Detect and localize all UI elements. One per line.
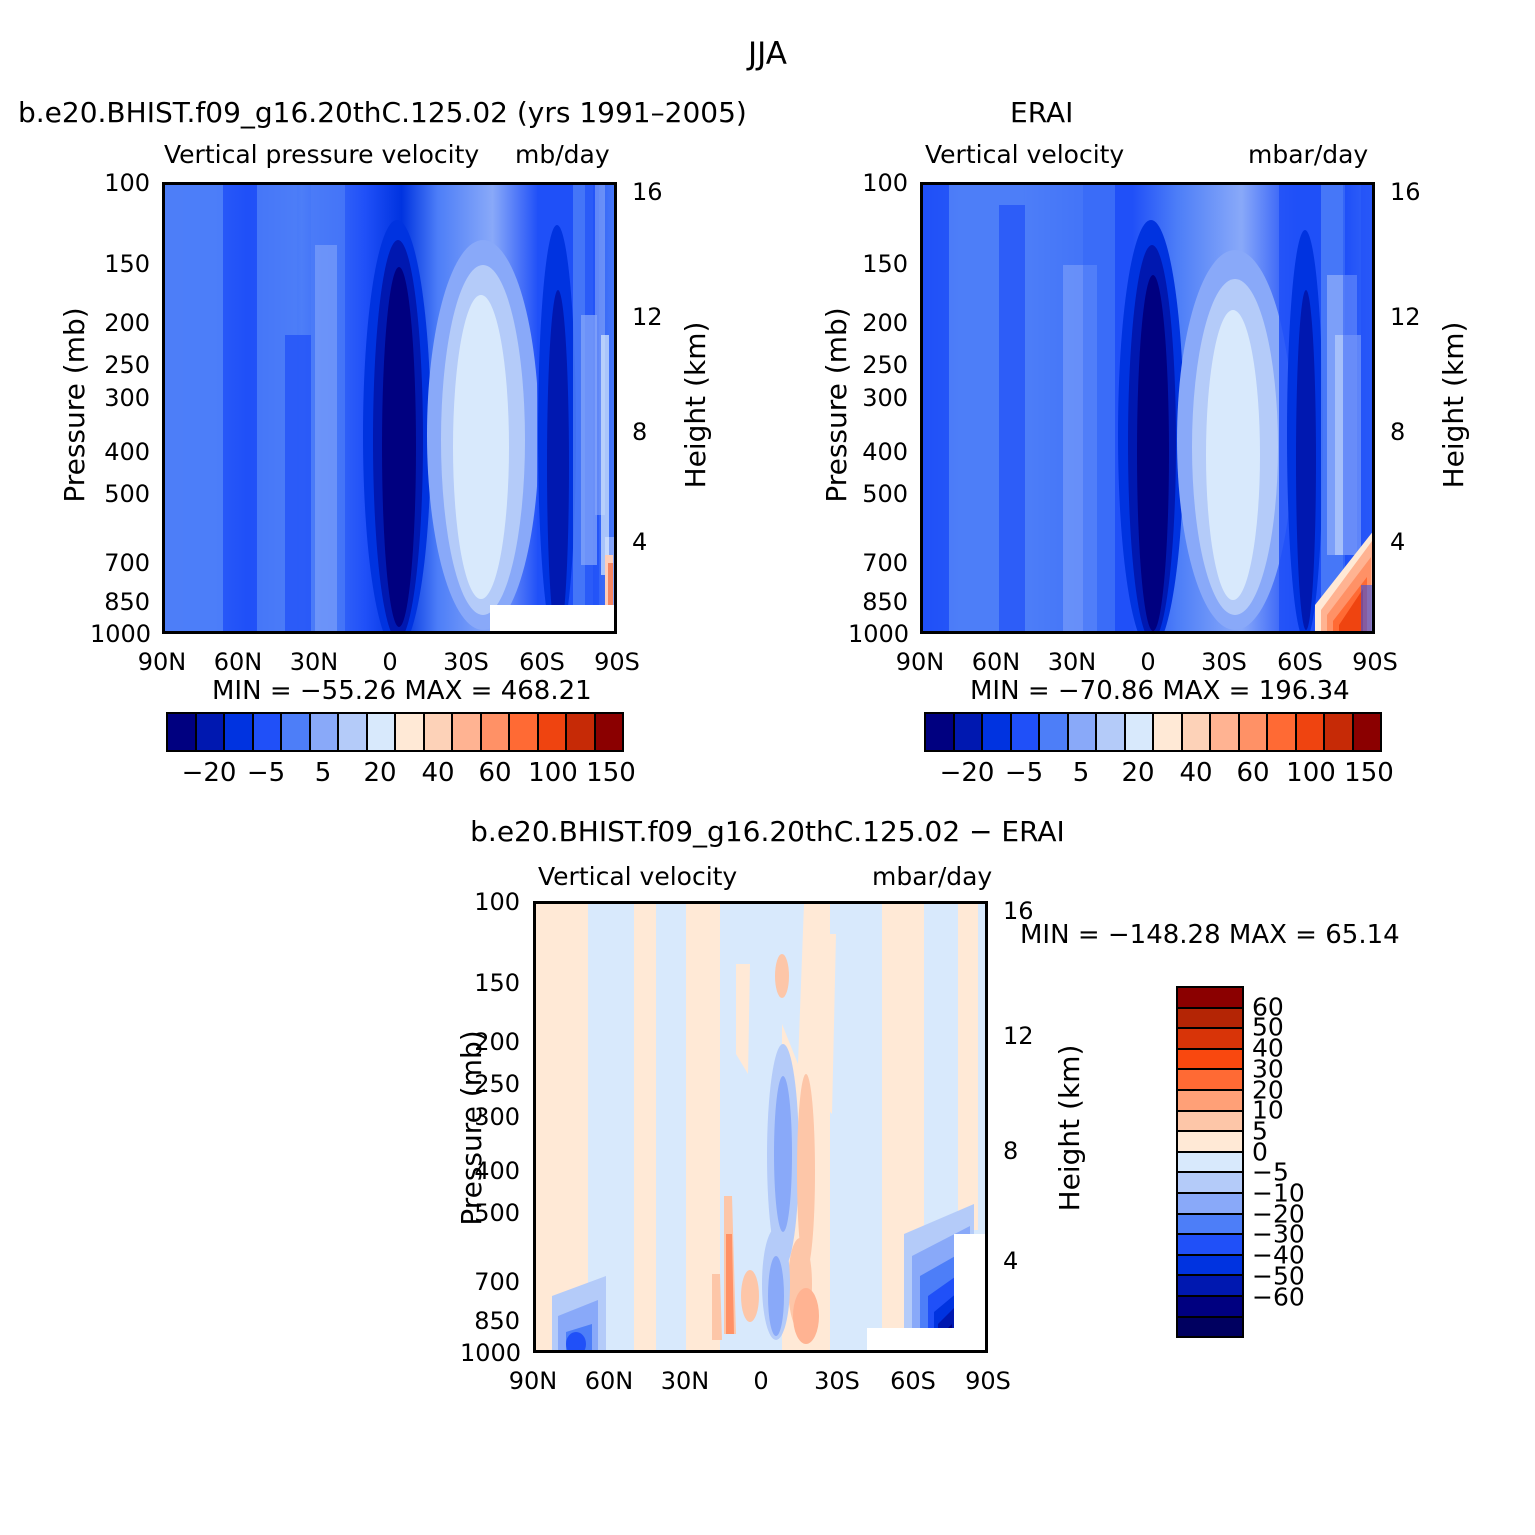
- y-axis-minor-tick: [920, 593, 923, 596]
- left-ytick-400: 400: [90, 438, 150, 466]
- right-ytick-300: 300: [848, 384, 908, 412]
- diff-ytick-150: 150: [460, 969, 520, 997]
- x-axis-minor-tick: [367, 182, 370, 185]
- y2-axis-tick: [614, 213, 617, 216]
- colorbar-cell: [1178, 1235, 1242, 1256]
- x-axis-minor-tick: [569, 631, 572, 634]
- right-xtick-30N: 30N: [1048, 648, 1097, 676]
- x-axis-minor-tick: [561, 901, 564, 904]
- left-unit-label: mb/day: [515, 140, 610, 169]
- colorbar-cell: [1154, 714, 1183, 750]
- x-axis-minor-tick: [1125, 182, 1128, 185]
- diff-y2tick-8: 8: [1003, 1137, 1018, 1165]
- colorbar-cell: [1126, 714, 1155, 750]
- right-ytick-250: 250: [848, 351, 908, 379]
- x-axis-minor-tick: [974, 631, 977, 634]
- colorbar-cell: [1178, 1297, 1242, 1318]
- y-axis-minor-tick: [533, 940, 536, 943]
- diff-colorbar-label: −60: [1252, 1282, 1305, 1311]
- colorbar-cell: [955, 714, 984, 750]
- right-panel-case-title: ERAI: [1010, 96, 1073, 129]
- x-axis-minor-tick: [1252, 182, 1255, 185]
- x-axis-minor-tick: [974, 182, 977, 185]
- y-axis-tick: [162, 365, 165, 368]
- y-axis-tick: [533, 984, 536, 987]
- colorbar-cell: [539, 714, 568, 750]
- x-axis-minor-tick: [494, 182, 497, 185]
- diff-xtick-60S: 60S: [890, 1367, 936, 1395]
- x-axis-tick: [317, 631, 320, 634]
- right-cbar-label-6: 100: [1286, 758, 1336, 788]
- right-ytick-150: 150: [848, 250, 908, 278]
- right-cbar-label-1: −5: [1005, 758, 1043, 788]
- right-y2tick-8: 8: [1390, 418, 1405, 446]
- diff-ytick-400: 400: [460, 1157, 520, 1185]
- y-axis-tick: [920, 265, 923, 268]
- colorbar-cell: [1178, 1215, 1242, 1236]
- y-axis-tick: [533, 1286, 536, 1289]
- diff-ytick-300: 300: [460, 1103, 520, 1131]
- right-xtick-30S: 30S: [1201, 648, 1247, 676]
- right-xtick-90N: 90N: [896, 648, 945, 676]
- left-ytick-150: 150: [90, 250, 150, 278]
- y-axis-minor-tick: [533, 1068, 536, 1071]
- right-xtick-0: 0: [1140, 648, 1155, 676]
- x-axis-tick: [1302, 182, 1305, 185]
- colorbar-cell: [510, 714, 539, 750]
- y-axis-tick: [920, 185, 923, 188]
- colorbar-cell: [1178, 1194, 1242, 1215]
- x-axis-tick: [1151, 182, 1154, 185]
- x-axis-minor-tick: [595, 182, 598, 185]
- x-axis-minor-tick: [1327, 182, 1330, 185]
- right-xtick-60N: 60N: [972, 648, 1021, 676]
- x-axis-minor-tick: [890, 901, 893, 904]
- left-cbar-label-0: −20: [182, 758, 237, 788]
- x-axis-minor-tick: [1327, 631, 1330, 634]
- left-cbar-label-3: 20: [363, 758, 396, 788]
- y2-axis-tick: [1372, 531, 1375, 534]
- x-axis-minor-tick: [494, 631, 497, 634]
- x-axis-tick: [1075, 631, 1078, 634]
- y-axis-minor-tick: [162, 623, 165, 626]
- colorbar-cell: [596, 714, 623, 750]
- x-axis-tick: [536, 901, 539, 904]
- left-ytick-250: 250: [90, 351, 150, 379]
- x-axis-minor-tick: [713, 901, 716, 904]
- x-axis-tick: [317, 182, 320, 185]
- left-ytick-700: 700: [90, 549, 150, 577]
- x-axis-tick: [241, 631, 244, 634]
- x-axis-tick: [915, 1350, 918, 1353]
- left-contour-field: [165, 185, 617, 634]
- x-axis-minor-tick: [291, 182, 294, 185]
- x-axis-minor-tick: [1353, 182, 1356, 185]
- diff-y2tick-12: 12: [1003, 1022, 1034, 1050]
- x-axis-tick: [536, 1350, 539, 1353]
- right-y2-axis-title: Height (km): [1437, 322, 1470, 489]
- y-axis-minor-tick: [920, 480, 923, 483]
- x-axis-tick: [923, 631, 926, 634]
- diff-xtick-30N: 30N: [661, 1367, 710, 1395]
- diff-y2-axis-title: Height (km): [1053, 1045, 1086, 1212]
- diff-ytick-200: 200: [460, 1028, 520, 1056]
- colorbar-cell: [225, 714, 254, 750]
- x-axis-minor-tick: [443, 631, 446, 634]
- y-axis-minor-tick: [533, 1199, 536, 1202]
- colorbar-cell: [339, 714, 368, 750]
- y-axis-minor-tick: [533, 1150, 536, 1153]
- y-axis-tick: [162, 265, 165, 268]
- right-xtick-90S: 90S: [1352, 648, 1398, 676]
- colorbar-cell: [1240, 714, 1269, 750]
- left-panel-case-title: b.e20.BHIST.f09_g16.20thC.125.02 (yrs 19…: [18, 96, 747, 129]
- y-axis-tick: [162, 185, 165, 188]
- y-axis-minor-tick: [162, 431, 165, 434]
- colorbar-cell: [1069, 714, 1098, 750]
- x-axis-minor-tick: [519, 631, 522, 634]
- colorbar-cell: [482, 714, 511, 750]
- colorbar-cell: [1178, 1091, 1242, 1112]
- diff-ytick-850: 850: [460, 1307, 520, 1335]
- left-y2tick-8: 8: [632, 418, 647, 446]
- x-axis-minor-tick: [814, 901, 817, 904]
- left-y2tick-16: 16: [632, 178, 663, 206]
- colorbar-cell: [453, 714, 482, 750]
- y-axis-tick: [920, 567, 923, 570]
- y2-axis-tick: [985, 1250, 988, 1253]
- colorbar-cell: [1178, 1009, 1242, 1030]
- x-axis-tick: [1075, 182, 1078, 185]
- right-cbar-label-5: 60: [1236, 758, 1269, 788]
- x-axis-tick: [764, 1350, 767, 1353]
- x-axis-minor-tick: [738, 1350, 741, 1353]
- y-axis-tick: [162, 457, 165, 460]
- colorbar-cell: [1325, 714, 1354, 750]
- colorbar-cell: [1178, 1029, 1242, 1050]
- y-axis-tick: [920, 401, 923, 404]
- right-colorbar: [924, 712, 1382, 752]
- x-axis-minor-tick: [443, 182, 446, 185]
- x-axis-minor-tick: [342, 631, 345, 634]
- x-axis-minor-tick: [587, 1350, 590, 1353]
- x-axis-minor-tick: [519, 182, 522, 185]
- colorbar-cell: [926, 714, 955, 750]
- x-axis-minor-tick: [789, 1350, 792, 1353]
- x-axis-minor-tick: [216, 182, 219, 185]
- colorbar-cell: [1297, 714, 1326, 750]
- x-axis-minor-tick: [1100, 631, 1103, 634]
- y-axis-tick: [162, 605, 165, 608]
- x-axis-minor-tick: [948, 182, 951, 185]
- diff-ytick-250: 250: [460, 1070, 520, 1098]
- colorbar-cell: [311, 714, 340, 750]
- diff-y2tick-4: 4: [1003, 1247, 1018, 1275]
- left-ytick-500: 500: [90, 480, 150, 508]
- y-axis-minor-tick: [920, 221, 923, 224]
- right-contour-plot: [920, 182, 1375, 634]
- x-axis-tick: [764, 901, 767, 904]
- x-axis-tick: [612, 1350, 615, 1353]
- x-axis-minor-tick: [342, 182, 345, 185]
- y-axis-minor-tick: [162, 593, 165, 596]
- x-axis-minor-tick: [266, 631, 269, 634]
- y-axis-tick: [533, 1324, 536, 1327]
- diff-contour-field: [536, 904, 988, 1353]
- x-axis-minor-tick: [865, 1350, 868, 1353]
- x-axis-minor-tick: [569, 182, 572, 185]
- x-axis-tick: [839, 1350, 842, 1353]
- left-ytick-100: 100: [90, 169, 150, 197]
- season-title: JJA: [0, 36, 1535, 72]
- x-axis-minor-tick: [940, 901, 943, 904]
- right-ytick-850: 850: [848, 588, 908, 616]
- diff-ytick-700: 700: [460, 1268, 520, 1296]
- left-cbar-label-7: 150: [586, 758, 636, 788]
- diff-unit-label: mbar/day: [872, 862, 992, 891]
- left-y2tick-12: 12: [632, 303, 663, 331]
- left-var-label: Vertical pressure velocity: [164, 140, 479, 169]
- y-axis-minor-tick: [533, 1312, 536, 1315]
- colorbar-cell: [254, 714, 283, 750]
- left-cbar-label-1: −5: [247, 758, 285, 788]
- x-axis-tick: [688, 901, 691, 904]
- x-axis-minor-tick: [1277, 182, 1280, 185]
- y-axis-tick: [533, 1040, 536, 1043]
- x-axis-minor-tick: [595, 631, 598, 634]
- right-unit-label: mbar/day: [1248, 140, 1368, 169]
- y-axis-minor-tick: [920, 300, 923, 303]
- colorbar-cell: [1178, 1050, 1242, 1071]
- colorbar-cell: [1178, 1256, 1242, 1277]
- colorbar-cell: [1012, 714, 1041, 750]
- left-cbar-label-2: 5: [315, 758, 332, 788]
- x-axis-minor-tick: [948, 631, 951, 634]
- left-minmax-text: MIN = −55.26 MAX = 468.21: [212, 676, 592, 706]
- y-axis-tick: [920, 321, 923, 324]
- colorbar-cell: [1354, 714, 1381, 750]
- x-axis-tick: [999, 631, 1002, 634]
- colorbar-cell: [1097, 714, 1126, 750]
- x-axis-minor-tick: [890, 1350, 893, 1353]
- x-axis-tick: [468, 631, 471, 634]
- right-minmax-text: MIN = −70.86 MAX = 196.34: [970, 676, 1350, 706]
- x-axis-minor-tick: [418, 631, 421, 634]
- diff-ytick-1000: 1000: [460, 1339, 520, 1367]
- x-axis-minor-tick: [1125, 631, 1128, 634]
- diff-colorbar: [1176, 986, 1244, 1338]
- x-axis-minor-tick: [865, 901, 868, 904]
- diff-xtick-90N: 90N: [509, 1367, 558, 1395]
- diff-contour-plot: [533, 901, 988, 1353]
- x-axis-minor-tick: [637, 901, 640, 904]
- colorbar-cell: [1268, 714, 1297, 750]
- colorbar-cell: [1211, 714, 1240, 750]
- y2-axis-tick: [1372, 213, 1375, 216]
- x-axis-minor-tick: [966, 1350, 969, 1353]
- x-axis-minor-tick: [190, 182, 193, 185]
- x-axis-minor-tick: [637, 1350, 640, 1353]
- left-xtick-90N: 90N: [138, 648, 187, 676]
- x-axis-tick: [393, 182, 396, 185]
- y-axis-tick: [162, 567, 165, 570]
- y-axis-tick: [533, 904, 536, 907]
- x-axis-tick: [393, 631, 396, 634]
- diff-minmax-text: MIN = −148.28 MAX = 65.14: [1020, 920, 1400, 950]
- left-y2tick-4: 4: [632, 528, 647, 556]
- x-axis-minor-tick: [1176, 631, 1179, 634]
- x-axis-minor-tick: [940, 1350, 943, 1353]
- y-axis-minor-tick: [162, 221, 165, 224]
- x-axis-tick: [165, 631, 168, 634]
- right-cbar-label-3: 20: [1121, 758, 1154, 788]
- x-axis-minor-tick: [587, 901, 590, 904]
- right-ytick-400: 400: [848, 438, 908, 466]
- left-xtick-90S: 90S: [594, 648, 640, 676]
- left-y2-axis-title: Height (km): [679, 322, 712, 489]
- right-cbar-label-2: 5: [1073, 758, 1090, 788]
- y-axis-tick: [533, 1176, 536, 1179]
- right-cbar-label-0: −20: [940, 758, 995, 788]
- x-axis-tick: [468, 182, 471, 185]
- x-axis-minor-tick: [266, 182, 269, 185]
- diff-xtick-30S: 30S: [814, 1367, 860, 1395]
- x-axis-tick: [1151, 631, 1154, 634]
- left-xtick-60N: 60N: [214, 648, 263, 676]
- left-cbar-label-6: 100: [528, 758, 578, 788]
- y-axis-tick: [162, 401, 165, 404]
- diff-xtick-90S: 90S: [965, 1367, 1011, 1395]
- x-axis-tick: [923, 182, 926, 185]
- left-cbar-label-5: 60: [478, 758, 511, 788]
- right-y2tick-16: 16: [1390, 178, 1421, 206]
- right-cbar-label-7: 150: [1344, 758, 1394, 788]
- x-axis-minor-tick: [738, 901, 741, 904]
- x-axis-tick: [688, 1350, 691, 1353]
- colorbar-cell: [368, 714, 397, 750]
- x-axis-minor-tick: [1024, 182, 1027, 185]
- colorbar-cell: [396, 714, 425, 750]
- x-axis-minor-tick: [1353, 631, 1356, 634]
- left-cbar-label-4: 40: [421, 758, 454, 788]
- y-axis-minor-tick: [162, 480, 165, 483]
- y-axis-minor-tick: [162, 300, 165, 303]
- y2-axis-tick: [614, 319, 617, 322]
- y2-axis-tick: [614, 531, 617, 534]
- y2-axis-tick: [985, 932, 988, 935]
- colorbar-cell: [168, 714, 197, 750]
- left-ytick-300: 300: [90, 384, 150, 412]
- y-axis-tick: [920, 605, 923, 608]
- y-axis-tick: [533, 1220, 536, 1223]
- y-axis-tick: [920, 457, 923, 460]
- colorbar-cell: [1178, 1112, 1242, 1133]
- right-contour-field: [923, 185, 1375, 634]
- y-axis-minor-tick: [162, 349, 165, 352]
- diff-panel-case-title: b.e20.BHIST.f09_g16.20thC.125.02 − ERAI: [0, 815, 1535, 848]
- left-ytick-850: 850: [90, 588, 150, 616]
- x-axis-minor-tick: [814, 1350, 817, 1353]
- colorbar-cell: [1040, 714, 1069, 750]
- colorbar-cell: [1178, 1173, 1242, 1194]
- left-ytick-200: 200: [90, 309, 150, 337]
- colorbar-cell: [425, 714, 454, 750]
- x-axis-minor-tick: [418, 182, 421, 185]
- y-axis-minor-tick: [920, 349, 923, 352]
- y-axis-tick: [920, 365, 923, 368]
- colorbar-cell: [1178, 1070, 1242, 1091]
- y-axis-minor-tick: [920, 537, 923, 540]
- y2-axis-tick: [614, 425, 617, 428]
- right-ytick-100: 100: [848, 169, 908, 197]
- x-axis-minor-tick: [1252, 631, 1255, 634]
- left-contour-plot: [162, 182, 617, 634]
- y-axis-tick: [533, 1084, 536, 1087]
- colorbar-cell: [1178, 1276, 1242, 1297]
- x-axis-minor-tick: [291, 631, 294, 634]
- left-colorbar: [166, 712, 624, 752]
- x-axis-minor-tick: [1277, 631, 1280, 634]
- right-ytick-200: 200: [848, 309, 908, 337]
- y2-axis-tick: [1372, 319, 1375, 322]
- y2-axis-tick: [985, 1144, 988, 1147]
- colorbar-cell: [1178, 1132, 1242, 1153]
- diff-xtick-60N: 60N: [585, 1367, 634, 1395]
- diff-ytick-500: 500: [460, 1199, 520, 1227]
- left-xtick-60S: 60S: [519, 648, 565, 676]
- left-y-axis-title: Pressure (mb): [58, 307, 91, 502]
- x-axis-tick: [612, 901, 615, 904]
- y-axis-tick: [920, 501, 923, 504]
- left-ytick-1000: 1000: [90, 620, 150, 648]
- x-axis-tick: [1226, 182, 1229, 185]
- x-axis-minor-tick: [1176, 182, 1179, 185]
- x-axis-tick: [999, 182, 1002, 185]
- diff-ytick-100: 100: [460, 888, 520, 916]
- x-axis-tick: [1302, 631, 1305, 634]
- right-var-label: Vertical velocity: [925, 140, 1124, 169]
- y2-axis-tick: [1372, 425, 1375, 428]
- y-axis-tick: [162, 501, 165, 504]
- x-axis-minor-tick: [662, 1350, 665, 1353]
- colorbar-cell: [1183, 714, 1212, 750]
- y2-axis-tick: [985, 1038, 988, 1041]
- right-ytick-1000: 1000: [848, 620, 908, 648]
- x-axis-minor-tick: [966, 901, 969, 904]
- x-axis-minor-tick: [662, 901, 665, 904]
- x-axis-minor-tick: [1049, 182, 1052, 185]
- x-axis-tick: [839, 901, 842, 904]
- diff-var-label: Vertical velocity: [538, 862, 737, 891]
- x-axis-minor-tick: [561, 1350, 564, 1353]
- x-axis-tick: [1226, 631, 1229, 634]
- colorbar-cell: [983, 714, 1012, 750]
- right-y2tick-4: 4: [1390, 528, 1405, 556]
- y-axis-minor-tick: [162, 537, 165, 540]
- x-axis-minor-tick: [216, 631, 219, 634]
- left-xtick-30N: 30N: [290, 648, 339, 676]
- x-axis-tick: [915, 901, 918, 904]
- left-xtick-30S: 30S: [443, 648, 489, 676]
- colorbar-cell: [1178, 1153, 1242, 1174]
- diff-xtick-0: 0: [753, 1367, 768, 1395]
- right-cbar-label-4: 40: [1179, 758, 1212, 788]
- y-axis-minor-tick: [533, 1019, 536, 1022]
- x-axis-minor-tick: [190, 631, 193, 634]
- x-axis-minor-tick: [1201, 182, 1204, 185]
- right-ytick-500: 500: [848, 480, 908, 508]
- y-axis-minor-tick: [533, 1342, 536, 1345]
